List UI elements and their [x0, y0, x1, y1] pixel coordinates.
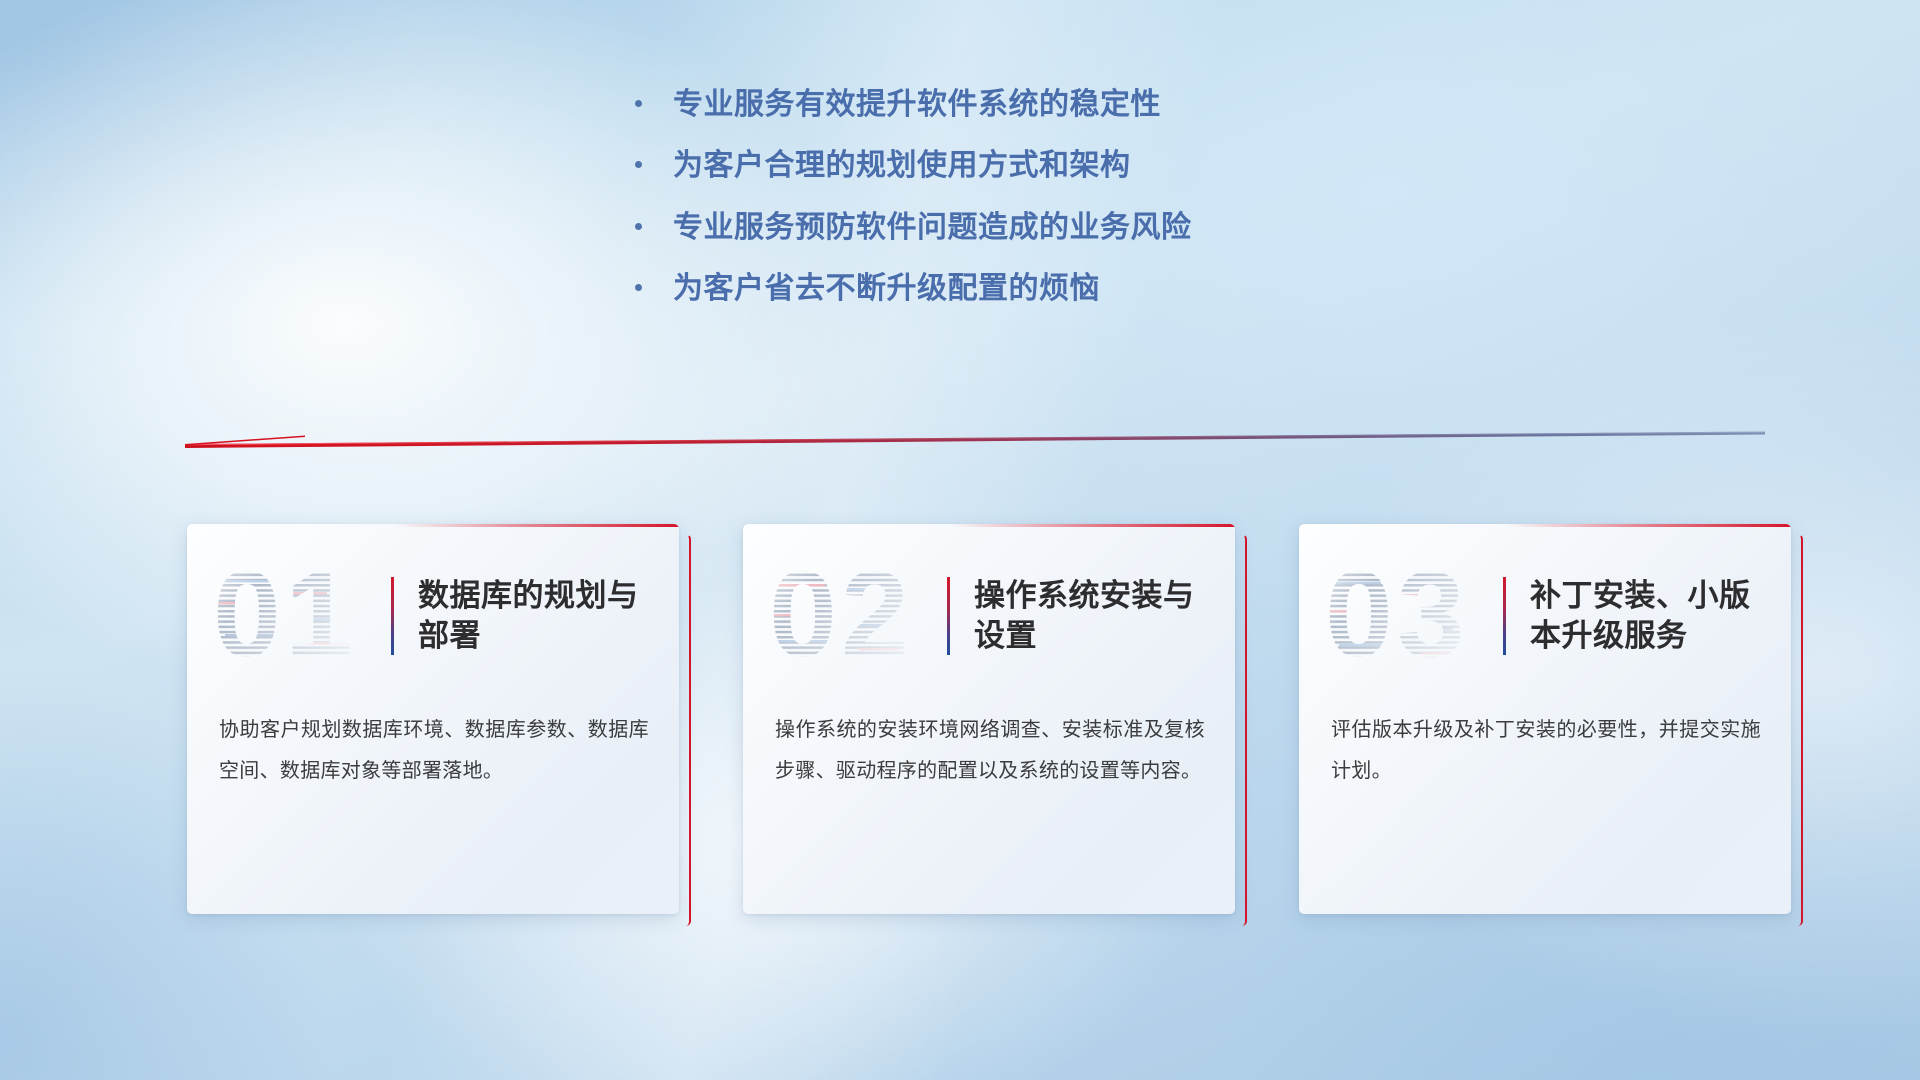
card-number-watermark: 01: [211, 558, 387, 674]
card-number-watermark: 02: [767, 558, 943, 674]
service-card[interactable]: 03: [1299, 524, 1791, 914]
card-header: 01: [187, 546, 679, 686]
card-surface: 03: [1299, 524, 1791, 914]
card-header: 03: [1299, 546, 1791, 686]
service-card[interactable]: 02: [743, 524, 1235, 914]
card-title-accent-bar: [1503, 577, 1506, 655]
bullet-item: 为客户合理的规划使用方式和架构: [635, 147, 1285, 185]
bullet-dot-icon: [635, 161, 642, 168]
divider-wedge-shape: [185, 424, 1765, 450]
bullet-item: 专业服务有效提升软件系统的稳定性: [635, 86, 1285, 124]
bullet-text: 为客户省去不断升级配置的烦恼: [673, 270, 1100, 308]
card-body-text: 协助客户规划数据库环境、数据库参数、数据库空间、数据库对象等部署落地。: [219, 710, 649, 791]
bullet-item: 专业服务预防软件问题造成的业务风险: [635, 209, 1285, 247]
card-title: 数据库的规划与部署: [418, 576, 679, 656]
striped-number-03-icon: 03: [1323, 558, 1499, 674]
card-top-accent-line: [743, 524, 1235, 527]
card-top-accent-line: [1299, 524, 1791, 527]
card-number-watermark: 03: [1323, 558, 1499, 674]
bullet-dot-icon: [635, 284, 642, 291]
striped-number-02-icon: 02: [767, 558, 943, 674]
bullet-dot-icon: [635, 100, 642, 107]
card-top-accent-line: [187, 524, 679, 527]
section-divider: [185, 424, 1765, 450]
card-title: 补丁安装、小版本升级服务: [1530, 576, 1791, 656]
card-header: 02: [743, 546, 1235, 686]
striped-number-01-icon: 01: [211, 558, 387, 674]
card-title-accent-bar: [947, 577, 950, 655]
card-body-text: 操作系统的安装环境网络调查、安装标准及复核步骤、驱动程序的配置以及系统的设置等内…: [775, 710, 1205, 791]
bullet-dot-icon: [635, 223, 642, 230]
card-surface: 01: [187, 524, 679, 914]
bullet-text: 专业服务有效提升软件系统的稳定性: [673, 86, 1161, 124]
bullet-item: 为客户省去不断升级配置的烦恼: [635, 270, 1285, 308]
card-title: 操作系统安装与设置: [974, 576, 1235, 656]
service-card[interactable]: 01: [187, 524, 679, 914]
bullet-text: 为客户合理的规划使用方式和架构: [673, 147, 1131, 185]
benefits-bullet-list: 专业服务有效提升软件系统的稳定性 为客户合理的规划使用方式和架构 专业服务预防软…: [0, 86, 1920, 332]
service-card-list: 01: [187, 524, 1791, 924]
card-surface: 02: [743, 524, 1235, 914]
card-title-accent-bar: [391, 577, 394, 655]
bullet-text: 专业服务预防软件问题造成的业务风险: [673, 209, 1192, 247]
card-body-text: 评估版本升级及补丁安装的必要性，并提交实施计划。: [1331, 710, 1761, 791]
